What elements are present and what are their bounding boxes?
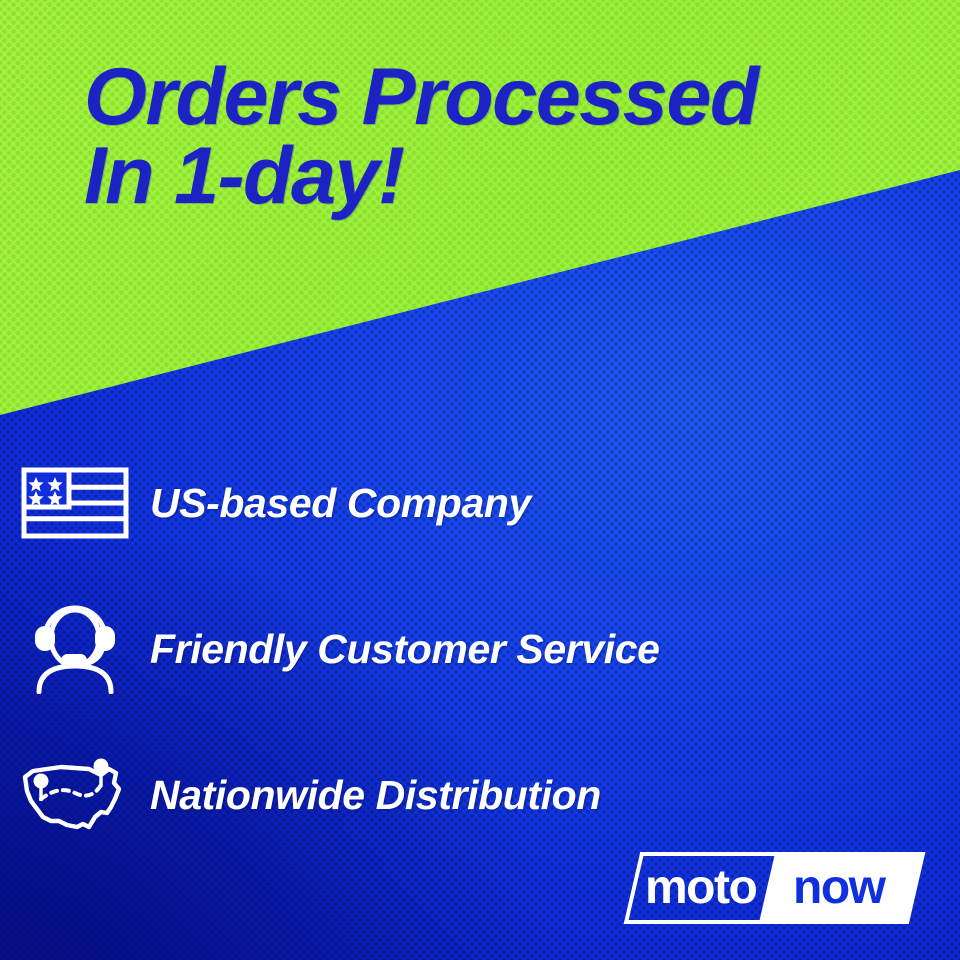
us-map-route-icon [0,755,150,835]
feature-label: US-based Company [150,480,531,527]
motonow-logo[interactable]: moto now [624,852,926,924]
feature-row-us-based: US-based Company [0,430,960,576]
feature-row-customer-service: Friendly Customer Service [0,576,960,722]
us-flag-icon [0,467,150,539]
headline-text: Orders Processed In 1-day! [84,58,944,215]
feature-label: Nationwide Distribution [150,772,601,819]
feature-row-nationwide: Nationwide Distribution [0,722,960,868]
promo-banner: Orders Processed In 1-day! [0,0,960,960]
logo-now-segment: now [759,852,926,924]
logo-now-text: now [793,864,884,912]
logo-moto-segment: moto [624,852,776,924]
feature-list: US-based Company [0,430,960,868]
headset-support-icon [0,604,150,694]
feature-label: Friendly Customer Service [150,626,660,673]
logo-moto-text: moto [645,864,756,912]
